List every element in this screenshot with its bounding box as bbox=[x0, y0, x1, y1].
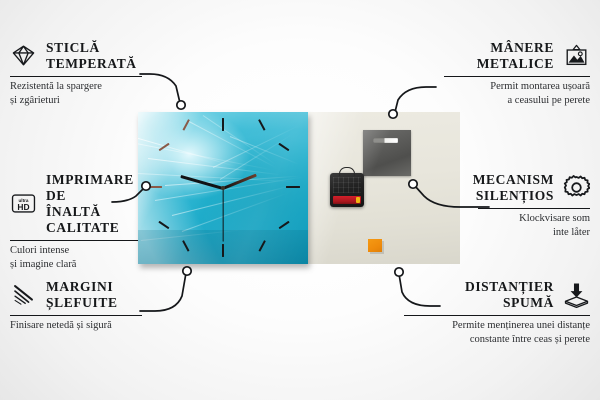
battery bbox=[333, 196, 361, 204]
callout-desc: Permit montarea ușoară a ceasului pe per… bbox=[444, 80, 590, 107]
callout-rule bbox=[444, 76, 590, 77]
callout-rule bbox=[478, 208, 590, 209]
callout-title: DISTANȚIER SPUMĂ bbox=[465, 279, 554, 311]
second-hand bbox=[222, 189, 223, 242]
callout-distantier-spuma: DISTANȚIER SPUMĂ Permite menținerea unei… bbox=[440, 279, 590, 346]
callout-manere-metalice: MÂNERE METALICE Permit montarea ușoară a… bbox=[444, 40, 590, 107]
leader-dot-margini bbox=[183, 267, 191, 275]
callout-mecanism-silentios: MECANISM SILENȚIOS Klockvisare som inte … bbox=[478, 172, 590, 239]
callout-desc: Klockvisare som inte låter bbox=[478, 212, 590, 239]
battery-terminal bbox=[356, 197, 360, 203]
callout-title: IMPRIMARE DE ÎNALTĂ CALITATE bbox=[46, 172, 134, 236]
clock-hub bbox=[221, 186, 225, 190]
product-image bbox=[138, 112, 460, 264]
clock-front-panel bbox=[138, 112, 308, 264]
foam-spacer bbox=[368, 239, 382, 252]
callout-title: STICLĂ TEMPERATĂ bbox=[46, 40, 137, 72]
callout-desc: Rezistentă la spargere și zgârieturi bbox=[10, 80, 142, 107]
callout-rule bbox=[10, 76, 142, 77]
callout-title: MARGINI ȘLEFUITE bbox=[46, 279, 118, 311]
leader-margini bbox=[140, 273, 186, 311]
callout-title: MECANISM SILENȚIOS bbox=[473, 172, 554, 204]
ultra-hd-icon: ultra HD bbox=[10, 190, 37, 217]
hanger-plate bbox=[363, 130, 411, 176]
polished-edges-icon bbox=[10, 281, 37, 308]
clock-face bbox=[138, 112, 308, 264]
callout-sticla-temperata: STICLĂ TEMPERATĂ Rezistentă la spargere … bbox=[10, 40, 142, 107]
clock-back-panel bbox=[308, 112, 460, 264]
diamond-icon bbox=[10, 42, 37, 69]
callout-margini-slefuite: MARGINI ȘLEFUITE Finisare netedă și sigu… bbox=[10, 279, 142, 333]
leader-dot-sticla-temperata bbox=[177, 101, 185, 109]
leader-sticla-temperata bbox=[140, 74, 180, 103]
callout-desc: Culori intense și imagine clară bbox=[10, 244, 112, 271]
clock-mechanism bbox=[330, 173, 364, 207]
callout-rule bbox=[404, 315, 590, 316]
gear-icon bbox=[563, 174, 590, 201]
callout-imprimare-inalta-calitate: ultra HD IMPRIMARE DE ÎNALTĂ CALITATE Cu… bbox=[10, 172, 112, 271]
hanger-slot bbox=[373, 138, 398, 143]
callout-desc: Finisare netedă și sigură bbox=[10, 319, 142, 332]
callout-title: MÂNERE METALICE bbox=[477, 40, 554, 72]
leader-dot-distantier bbox=[395, 268, 403, 276]
back-plate bbox=[308, 112, 460, 264]
picture-hanger-icon bbox=[563, 42, 590, 69]
mechanism-texture bbox=[333, 177, 361, 193]
svg-text:HD: HD bbox=[17, 202, 29, 212]
foam-spacer-icon bbox=[563, 281, 590, 308]
callout-rule bbox=[10, 315, 142, 316]
leader-distantier bbox=[399, 274, 440, 306]
callout-desc: Permite menținerea unei distanțe constan… bbox=[404, 319, 590, 346]
mechanism-hanging-loop bbox=[339, 167, 355, 176]
